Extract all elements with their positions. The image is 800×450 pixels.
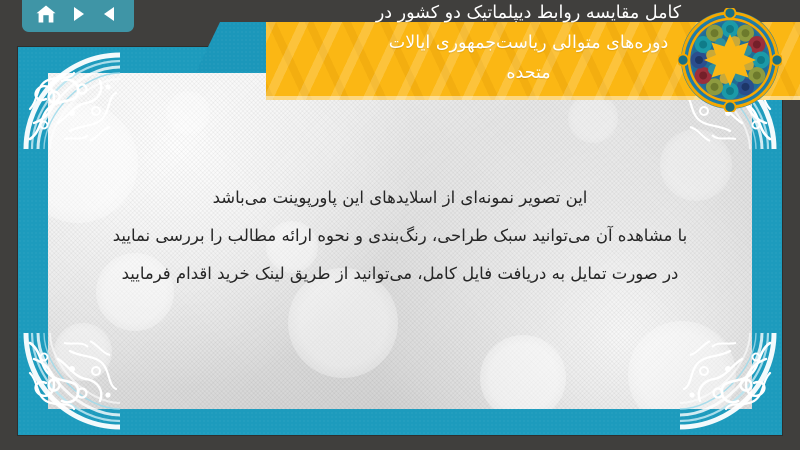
triangle-right-icon bbox=[68, 4, 88, 24]
bokeh-circle bbox=[54, 323, 112, 381]
bokeh-circle bbox=[628, 321, 736, 409]
slide-body-text: این تصویر نمونه‌ای از اسلایدهای این پاور… bbox=[78, 179, 722, 293]
body-line: با مشاهده آن می‌توانید سبک طراحی، رنگ‌بن… bbox=[78, 217, 722, 255]
forward-button[interactable] bbox=[65, 1, 91, 27]
navigation-bar bbox=[22, 0, 134, 32]
triangle-left-icon bbox=[100, 4, 120, 24]
banner-tail bbox=[196, 22, 276, 72]
home-button[interactable] bbox=[33, 1, 59, 27]
bokeh-circle bbox=[568, 93, 618, 143]
persian-ornament-medallion bbox=[678, 8, 782, 112]
slide-canvas: این تصویر نمونه‌ای از اسلایدهای این پاور… bbox=[18, 47, 782, 435]
body-line: این تصویر نمونه‌ای از اسلایدهای این پاور… bbox=[78, 179, 722, 217]
body-line: در صورت تمایل به دریافت فایل کامل، می‌تو… bbox=[78, 255, 722, 293]
slide-viewer-window: این تصویر نمونه‌ای از اسلایدهای این پاور… bbox=[0, 0, 800, 450]
bokeh-circle bbox=[480, 335, 566, 409]
home-icon bbox=[35, 4, 57, 24]
back-button[interactable] bbox=[97, 1, 123, 27]
